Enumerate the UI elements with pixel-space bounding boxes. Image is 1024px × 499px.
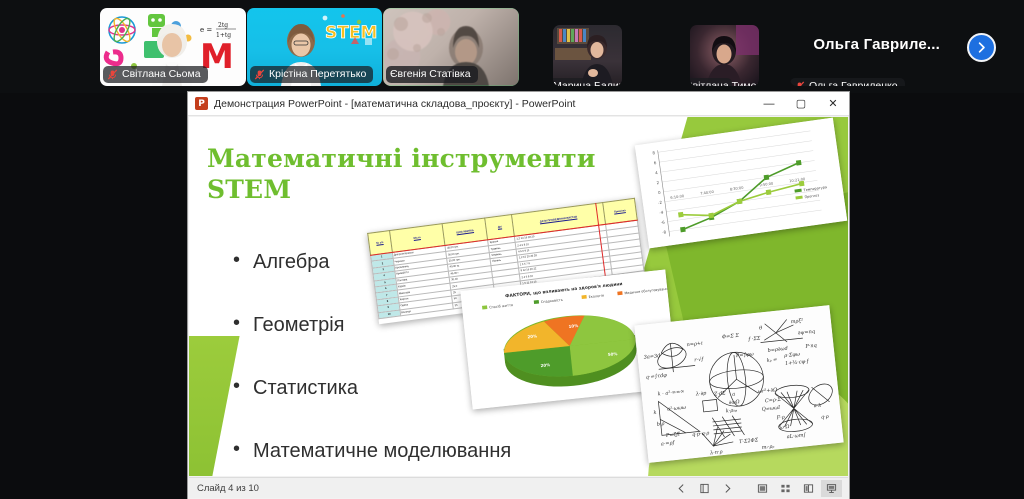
svg-text:θ: θ [759, 325, 763, 331]
participant-name-pill-4: Світлана Тимошенко [690, 78, 732, 86]
svg-text:ω·Ω: ω·Ω [780, 424, 790, 431]
participant-name-3: Марина Балицкая [553, 80, 622, 86]
participant-name-2: Євгенія Статівка [390, 68, 471, 81]
participant-name-pill-5: Ольга Гавриленко [790, 78, 905, 86]
svg-text:20%: 20% [527, 333, 537, 339]
svg-text:b·ρ: b·ρ [657, 421, 665, 428]
slide-counter: Слайд 4 из 10 [197, 483, 259, 494]
slideshow-view-icon [826, 483, 837, 494]
powerpoint-app-icon: P [195, 97, 208, 110]
participant-name-4: Світлана Тимошенко [690, 80, 759, 86]
svg-text:λ·∂p: λ·∂p [695, 390, 708, 397]
slide-thumbnail-button[interactable] [694, 480, 715, 497]
normal-view-icon [757, 483, 768, 494]
microphone-muted-icon [794, 81, 805, 86]
powerpoint-window: P Демонстрация PowerPoint - [математична… [188, 92, 849, 499]
svg-text:kρ =: kρ = [766, 357, 777, 364]
microphone-muted-icon [107, 69, 118, 80]
participant-name-pill-1: Крістіна Перетятько [250, 66, 373, 83]
participant-name-5: Ольга Гавриленко [809, 80, 898, 86]
maximize-button[interactable]: ▢ [785, 92, 817, 115]
participant-video-3 [553, 25, 622, 86]
svg-text:e =: e = [200, 26, 212, 34]
svg-text:q·ρ: q·ρ [821, 414, 829, 421]
participant-tile-2[interactable]: Євгенія Статівка [383, 8, 519, 86]
svg-text:10%: 10% [568, 323, 578, 329]
svg-text:k: k [653, 410, 657, 416]
participant-name-pill-0: Світлана Сьома [103, 66, 208, 83]
svg-text:a·λ: a·λ [813, 403, 821, 410]
window-controls: — ▢ ✕ [753, 92, 849, 115]
microphone-muted-icon [254, 69, 265, 80]
participant-tile-5[interactable]: Ольга Гавриленко [790, 25, 920, 86]
slide-title: Математичні інструменти STEM [207, 143, 627, 205]
participant-video-4 [690, 25, 759, 86]
statusbar-controls [671, 480, 842, 497]
next-participants-page-button[interactable] [967, 33, 996, 62]
participant-tile-3[interactable]: Марина Балицкая [553, 25, 622, 86]
powerpoint-statusbar: Слайд 4 из 10 [189, 477, 848, 498]
close-button[interactable]: ✕ [817, 92, 849, 115]
previous-slide-button[interactable] [671, 480, 692, 497]
overflow-participant-label: Ольга Гавриле... [813, 36, 940, 53]
chevron-right-icon [722, 483, 733, 494]
svg-text:P·nq: P·nq [804, 343, 817, 350]
chevron-right-icon [974, 40, 989, 55]
normal-view-button[interactable] [752, 480, 773, 497]
svg-text:F·ρ: F·ρ [775, 414, 785, 421]
svg-text:20%: 20% [540, 362, 550, 368]
svg-text:1+tg: 1+tg [216, 32, 231, 39]
window-titlebar[interactable]: P Демонстрация PowerPoint - [математична… [188, 92, 849, 116]
reading-view-icon [803, 483, 814, 494]
slideshow-view-button[interactable] [821, 480, 842, 497]
participant-tile-4[interactable]: Світлана Тимошенко [690, 25, 759, 86]
slide-sorter-button[interactable] [775, 480, 796, 497]
svg-text:50%: 50% [608, 351, 618, 357]
reading-view-button[interactable] [798, 480, 819, 497]
participant-tile-1[interactable]: STEM Крі [247, 8, 382, 86]
participant-name-0: Світлана Сьома [122, 68, 201, 81]
math-notes-svg: 3a=3dn=ρ+iΦ=Σ Σf ·ΣΣ q·=∫τdφr·√fP=∫φω θm… [634, 305, 843, 463]
svg-text:a: a [732, 391, 736, 397]
slide-thumbnail-icon [699, 483, 710, 494]
participant-name-pill-3: Марина Балицкая [553, 78, 600, 86]
slide-sorter-icon [780, 483, 791, 494]
minimize-button[interactable]: — [753, 92, 785, 115]
participant-name-pill-2: Євгенія Статівка [386, 66, 478, 83]
participant-tile-0[interactable]: M e = 2tg 1+tg [100, 8, 246, 86]
svg-text:∂ωΩ: ∂ωΩ [729, 399, 740, 406]
participant-name-1: Крістіна Перетятько [269, 68, 366, 81]
next-slide-button[interactable] [717, 480, 738, 497]
chevron-left-icon [676, 483, 687, 494]
slide-bullet-3: Математичне моделювання [233, 440, 633, 463]
svg-text:r·√f: r·√f [694, 356, 705, 363]
window-title: Демонстрация PowerPoint - [математична с… [214, 98, 575, 110]
svg-text:mρξ²: mρξ² [791, 318, 804, 325]
screen-root: M e = 2tg 1+tg [0, 0, 1024, 499]
slide-canvas[interactable]: Математичні інструменти STEM Алгебра Гео… [189, 117, 848, 476]
svg-text:2tg: 2tg [218, 22, 228, 29]
table-cell: 10 [378, 309, 400, 318]
slide-image-math-formulas: 3a=3dn=ρ+iΦ=Σ Σf ·ΣΣ q·=∫τdφr·√fP=∫φω θm… [634, 305, 843, 463]
participant-filmstrip: M e = 2tg 1+tg [0, 0, 1024, 93]
